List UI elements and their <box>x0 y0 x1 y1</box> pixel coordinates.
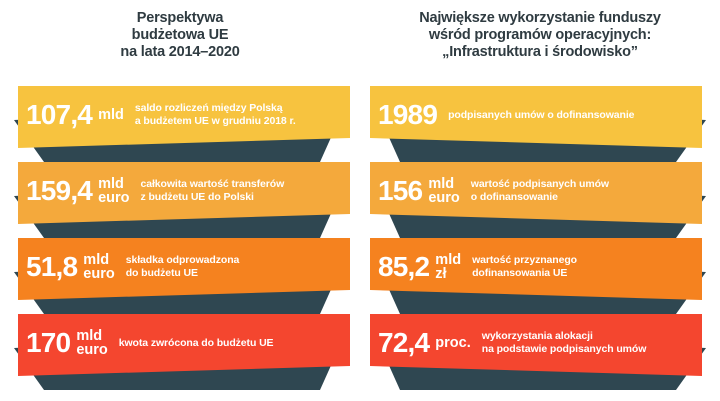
metric-unit-line: euro <box>83 267 114 282</box>
metric-unit-line: euro <box>98 191 129 206</box>
ribbon-row: 107,4 mld saldo rozliczeń między Polską … <box>0 76 360 172</box>
header-line: na lata 2014–2020 <box>0 44 360 61</box>
metric: 72,4 proc. <box>378 329 471 357</box>
column-header-left: Perspektywa budżetowa UE na lata 2014–20… <box>0 10 360 61</box>
column-wykorzystanie-funduszy: Największe wykorzystanie funduszy wśród … <box>360 0 720 401</box>
metric-description: składka odprowadzona do budżetu UE <box>126 254 240 280</box>
ribbon-content: 72,4 proc. wykorzystania alokacji na pod… <box>378 318 696 368</box>
metric-value: 170 <box>26 329 70 357</box>
description-line: saldo rozliczeń między Polską <box>135 102 296 115</box>
header-line: Największe wykorzystanie funduszy <box>360 10 720 27</box>
metric-unit: mld <box>98 108 124 123</box>
metric-description: saldo rozliczeń między Polską a budżetem… <box>135 102 296 128</box>
description-line: z budżetu UE do Polski <box>141 191 285 204</box>
description-line: podpisanych umów o dofinansowanie <box>448 109 634 122</box>
ribbon-content: 1989 podpisanych umów o dofinansowanie <box>378 90 696 140</box>
metric-description: wykorzystania alokacji na podstawie podp… <box>482 330 647 356</box>
ribbon-row: 72,4 proc. wykorzystania alokacji na pod… <box>360 304 720 400</box>
column-header-right: Największe wykorzystanie funduszy wśród … <box>360 10 720 61</box>
description-line: a budżetem UE w grudniu 2018 r. <box>135 115 296 128</box>
ribbon-content: 159,4 mld euro całkowita wartość transfe… <box>26 166 344 216</box>
description-line: składka odprowadzona <box>126 254 240 267</box>
metric-unit-line: zł <box>435 267 461 282</box>
column-perspektywa-budzetowa: Perspektywa budżetowa UE na lata 2014–20… <box>0 0 360 401</box>
description-line: wykorzystania alokacji <box>482 330 647 343</box>
description-line: kwota zwrócona do budżetu UE <box>119 337 274 350</box>
metric: 156 mld euro <box>378 177 460 206</box>
metric-description: całkowita wartość transferów z budżetu U… <box>141 178 285 204</box>
ribbon-content: 170 mld euro kwota zwrócona do budżetu U… <box>26 318 344 368</box>
metric-unit-line: euro <box>428 191 459 206</box>
infographic-root: Perspektywa budżetowa UE na lata 2014–20… <box>0 0 720 401</box>
metric-unit: mld euro <box>98 177 129 206</box>
header-line: Perspektywa <box>0 10 360 27</box>
metric-description: podpisanych umów o dofinansowanie <box>448 109 634 122</box>
header-line: budżetowa UE <box>0 27 360 44</box>
ribbon-content: 85,2 mld zł wartość przyznanego dofinans… <box>378 242 696 292</box>
metric-unit: proc. <box>435 336 470 351</box>
metric: 107,4 mld <box>26 101 124 129</box>
metric: 1989 <box>378 101 437 129</box>
ribbon-row: 1989 podpisanych umów o dofinansowanie <box>360 76 720 172</box>
metric-value: 85,2 <box>378 253 429 281</box>
metric-description: kwota zwrócona do budżetu UE <box>119 337 274 350</box>
description-line: na podstawie podpisanych umów <box>482 343 647 356</box>
metric-unit: mld zł <box>435 253 461 282</box>
metric-unit: mld euro <box>76 329 107 358</box>
metric-unit: mld euro <box>83 253 114 282</box>
description-line: do budżetu UE <box>126 267 240 280</box>
ribbon-row: 159,4 mld euro całkowita wartość transfe… <box>0 152 360 248</box>
description-line: wartość podpisanych umów <box>471 178 609 191</box>
ribbon-row: 156 mld euro wartość podpisanych umów o … <box>360 152 720 248</box>
metric: 51,8 mld euro <box>26 253 115 282</box>
ribbon-content: 51,8 mld euro składka odprowadzona do bu… <box>26 242 344 292</box>
metric: 170 mld euro <box>26 329 108 358</box>
metric: 159,4 mld euro <box>26 177 130 206</box>
metric-description: wartość przyznanego dofinansowania UE <box>472 254 577 280</box>
metric-description: wartość podpisanych umów o dofinansowani… <box>471 178 609 204</box>
description-line: wartość przyznanego <box>472 254 577 267</box>
ribbon-content: 107,4 mld saldo rozliczeń między Polską … <box>26 90 344 140</box>
ribbon-row: 51,8 mld euro składka odprowadzona do bu… <box>0 228 360 324</box>
metric-value: 1989 <box>378 101 437 129</box>
metric: 85,2 mld zł <box>378 253 461 282</box>
description-line: dofinansowania UE <box>472 267 577 280</box>
metric-value: 156 <box>378 177 422 205</box>
metric-value: 107,4 <box>26 101 92 129</box>
metric-value: 51,8 <box>26 253 77 281</box>
header-line: wśród programów operacyjnych: <box>360 27 720 44</box>
header-line: „Infrastruktura i środowisko” <box>360 44 720 61</box>
metric-value: 159,4 <box>26 177 92 205</box>
description-line: o dofinansowanie <box>471 191 609 204</box>
ribbon-content: 156 mld euro wartość podpisanych umów o … <box>378 166 696 216</box>
metric-unit-line: euro <box>76 343 107 358</box>
metric-unit-line: mld <box>98 107 124 123</box>
description-line: całkowita wartość transferów <box>141 178 285 191</box>
metric-unit-line: proc. <box>435 335 470 351</box>
metric-value: 72,4 <box>378 329 429 357</box>
ribbon-row: 170 mld euro kwota zwrócona do budżetu U… <box>0 304 360 400</box>
ribbon-row: 85,2 mld zł wartość przyznanego dofinans… <box>360 228 720 324</box>
metric-unit: mld euro <box>428 177 459 206</box>
